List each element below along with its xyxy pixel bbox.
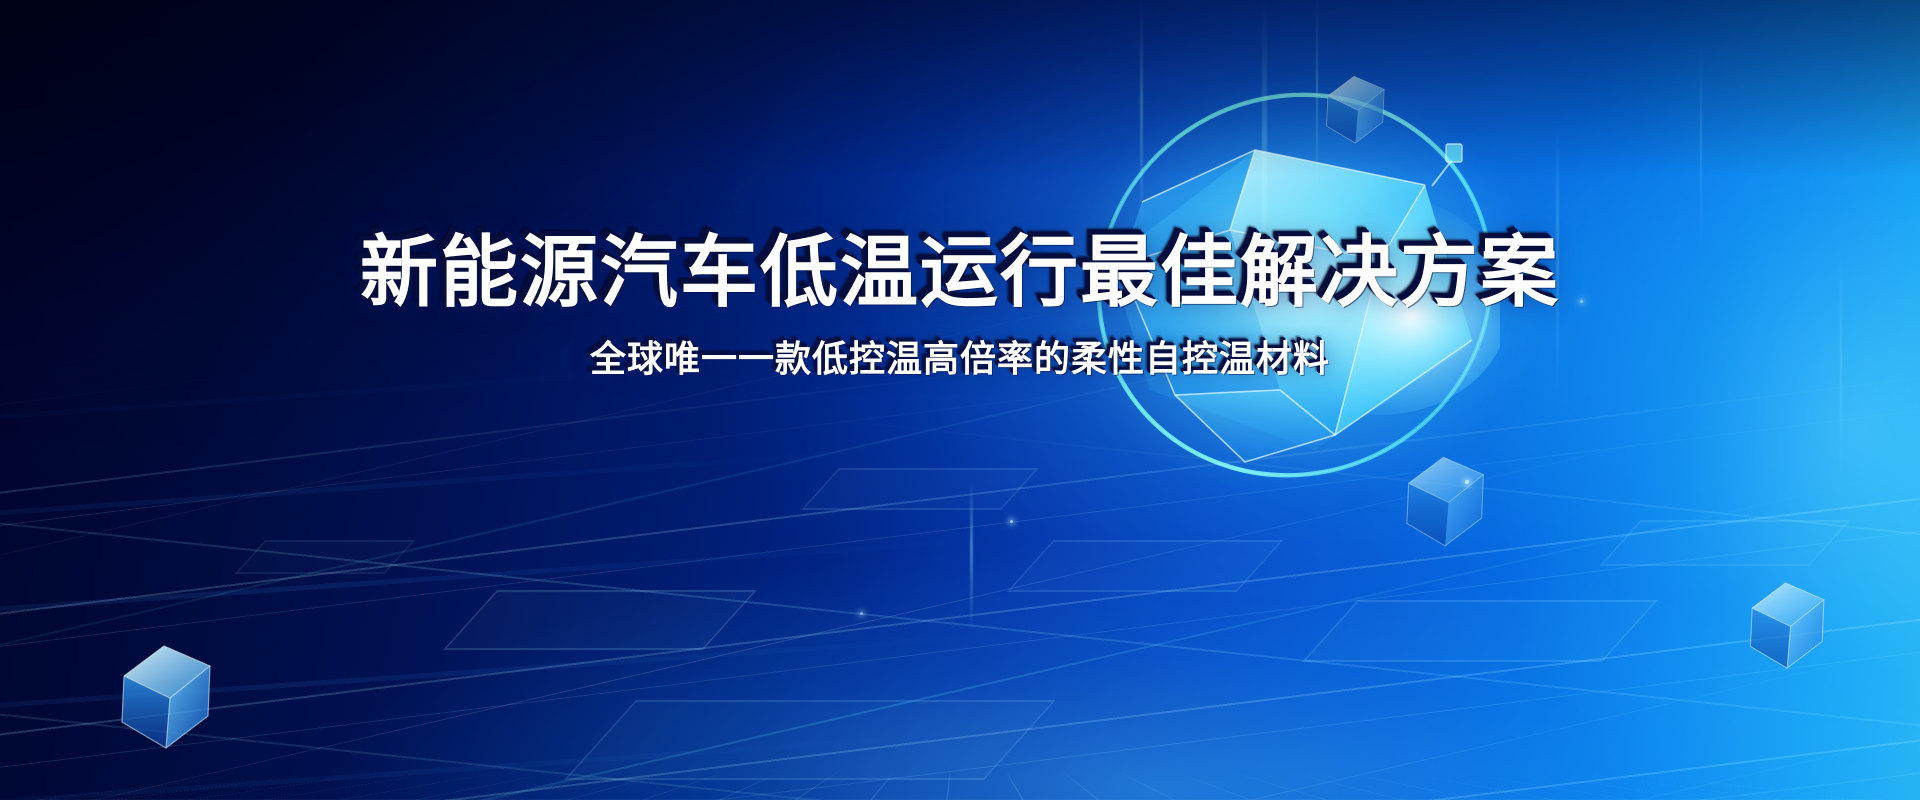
sparkle-3	[1580, 300, 1583, 303]
sparkle-4	[860, 612, 863, 615]
sparkle-2	[1010, 520, 1013, 523]
light-beam-1	[1140, 0, 1143, 230]
light-beam-4	[1556, 130, 1559, 390]
floor-plate-4	[1302, 600, 1658, 662]
floor-plate-7	[1599, 520, 1850, 566]
light-streaks-secondary	[0, 0, 1920, 800]
floor-plate-2	[801, 468, 1039, 510]
page-title: 新能源汽车低温运行最佳解决方案	[0, 232, 1920, 313]
floor-plate-1	[443, 590, 757, 650]
mini-cube-top-right	[1320, 72, 1392, 148]
floor-plate-3	[1007, 540, 1284, 592]
crystal-cube-svg	[1080, 90, 1500, 490]
background-glow-center	[0, 0, 1920, 800]
background-gradient	[0, 0, 1920, 800]
light-beam-3	[1316, 0, 1318, 190]
floor-plate-6	[235, 540, 416, 574]
crystal-halo	[960, 0, 1620, 600]
background-glow-right	[0, 0, 1920, 800]
mini-cube-bottom-right	[1742, 578, 1834, 674]
corner-vignette	[0, 0, 1920, 800]
light-streaks-primary	[0, 0, 1920, 800]
sparkle-1	[1465, 480, 1469, 484]
page-subtitle: 全球唯一一款低控温高倍率的柔性自控温材料	[0, 339, 1920, 379]
light-beam-2	[1262, 0, 1267, 300]
floor-plate-5	[564, 700, 1056, 780]
mini-cube-left	[112, 640, 222, 755]
light-streaks-left	[0, 0, 1920, 800]
banner-hero: 新能源汽车低温运行最佳解决方案 全球唯一一款低控温高倍率的柔性自控温材料	[0, 0, 1920, 800]
perspective-grid-floor	[0, 771, 1920, 800]
banner-copy: 新能源汽车低温运行最佳解决方案 全球唯一一款低控温高倍率的柔性自控温材料	[0, 232, 1920, 379]
light-beam-7	[1840, 250, 1842, 480]
light-beam-5	[1700, 40, 1702, 250]
crystal-cube-graphic	[1080, 90, 1500, 490]
background-glow-bottom	[0, 0, 1920, 800]
light-streaks-tertiary	[0, 0, 1920, 800]
orbital-ring-graphic	[1040, 70, 1550, 500]
light-beam-6	[970, 480, 973, 630]
mini-cube-mid-right	[1398, 452, 1494, 552]
